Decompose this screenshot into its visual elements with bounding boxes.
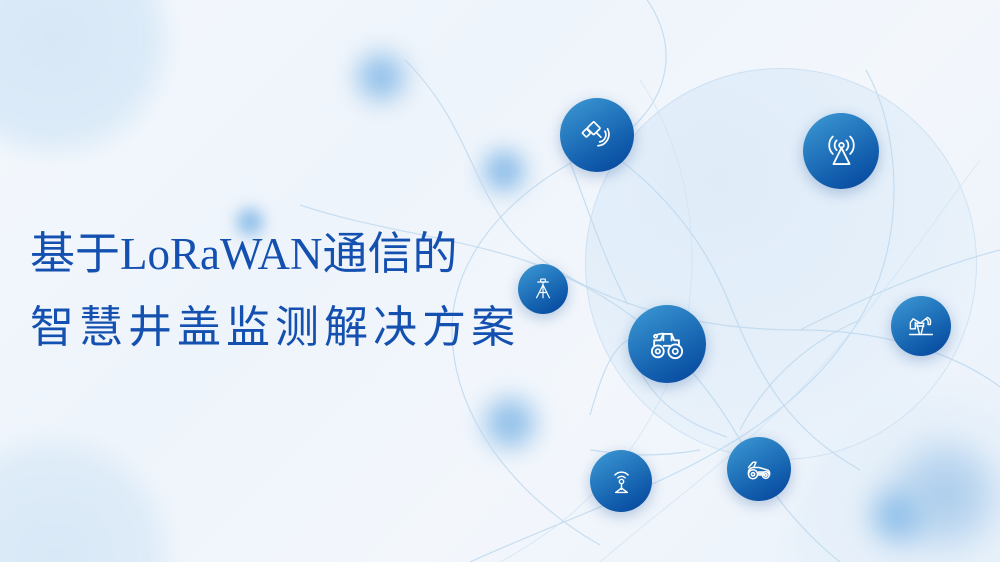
page-title-line-1: 基于LoRaWAN通信的 bbox=[30, 232, 590, 277]
antenna-tower-icon bbox=[820, 130, 863, 173]
globe-sphere bbox=[585, 68, 977, 460]
decorative-dot-0 bbox=[352, 48, 410, 106]
page-title-line-2: 智慧井盖监测解决方案 bbox=[30, 306, 590, 350]
background-blob-bottom-left bbox=[0, 430, 178, 562]
node-oil-pumpjack[interactable] bbox=[891, 296, 951, 356]
background-glow-bottom-right bbox=[885, 440, 1000, 560]
node-wireless-sensor[interactable] bbox=[590, 450, 652, 512]
node-tractor[interactable] bbox=[628, 305, 706, 383]
background-blob-top-left bbox=[0, 0, 178, 164]
decorative-dot-2 bbox=[479, 392, 541, 454]
background-blob-bottom-right bbox=[790, 390, 1000, 562]
globe-outline bbox=[585, 68, 977, 460]
node-satellite[interactable] bbox=[560, 98, 634, 172]
tractor-icon bbox=[645, 322, 689, 366]
wireless-sensor-icon bbox=[604, 464, 639, 499]
decorative-dot-4 bbox=[866, 484, 930, 548]
node-antenna-tower[interactable] bbox=[803, 113, 879, 189]
node-robot-mower[interactable] bbox=[727, 437, 791, 501]
oil-pumpjack-icon bbox=[904, 309, 938, 343]
satellite-icon bbox=[577, 115, 618, 156]
presentation-slide: 基于LoRaWAN通信的 智慧井盖监测解决方案 bbox=[0, 0, 1000, 562]
decorative-dot-1 bbox=[478, 145, 530, 197]
slide-title-block: 基于LoRaWAN通信的 智慧井盖监测解决方案 bbox=[30, 232, 590, 350]
robot-mower-icon bbox=[741, 451, 777, 487]
